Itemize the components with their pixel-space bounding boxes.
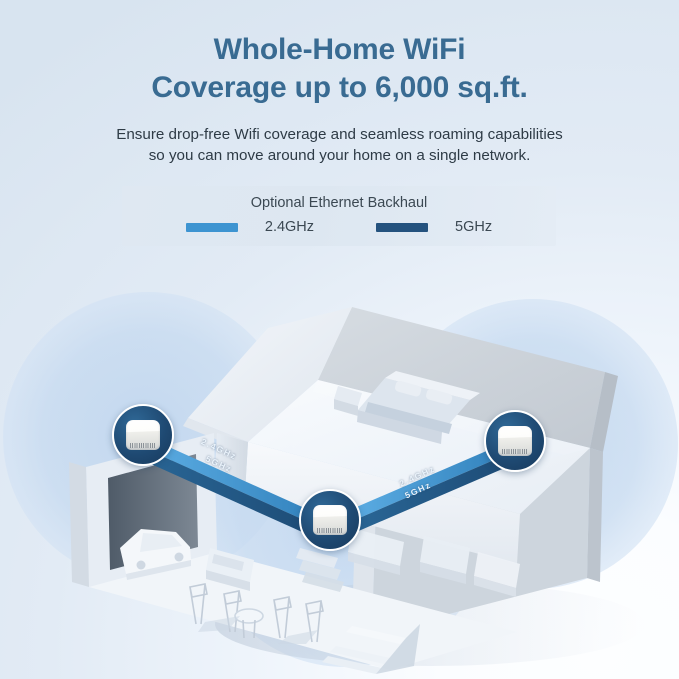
house-scene-graphic [0, 252, 679, 679]
page-title-line-1: Whole-Home WiFi [0, 32, 679, 68]
wifi-router-icon [498, 426, 532, 456]
router-vents-icon [130, 443, 156, 448]
legend-panel: Optional Ethernet Backhaul 2.4GHz 5GHz [122, 186, 556, 246]
legend-item-5ghz: 5GHz [376, 219, 492, 235]
legend-label-5ghz: 5GHz [455, 219, 492, 235]
page-title-line-2: Coverage up to 6,000 sq.ft. [0, 70, 679, 106]
router-node-right [484, 410, 546, 472]
page-subtitle-line-1: Ensure drop-free Wifi coverage and seaml… [0, 124, 679, 145]
wifi-router-icon [126, 420, 160, 450]
legend-swatch-5ghz-icon [376, 223, 428, 232]
legend-label-24ghz: 2.4GHz [265, 219, 314, 235]
wifi-router-icon [313, 505, 347, 535]
legend-title: Optional Ethernet Backhaul [122, 195, 556, 211]
router-vents-icon [317, 528, 343, 533]
header: Whole-Home WiFi Coverage up to 6,000 sq.… [0, 0, 679, 166]
house-illustration: 2.4GHz 5GHz 2.4GHz 5GHz [0, 252, 679, 679]
router-node-left [112, 404, 174, 466]
router-node-center [299, 489, 361, 551]
page-subtitle-line-2: so you can move around your home on a si… [0, 145, 679, 166]
legend-swatch-24ghz-icon [186, 223, 238, 232]
legend-items: 2.4GHz 5GHz [122, 219, 556, 235]
router-vents-icon [502, 449, 528, 454]
legend-item-24ghz: 2.4GHz [186, 219, 376, 235]
